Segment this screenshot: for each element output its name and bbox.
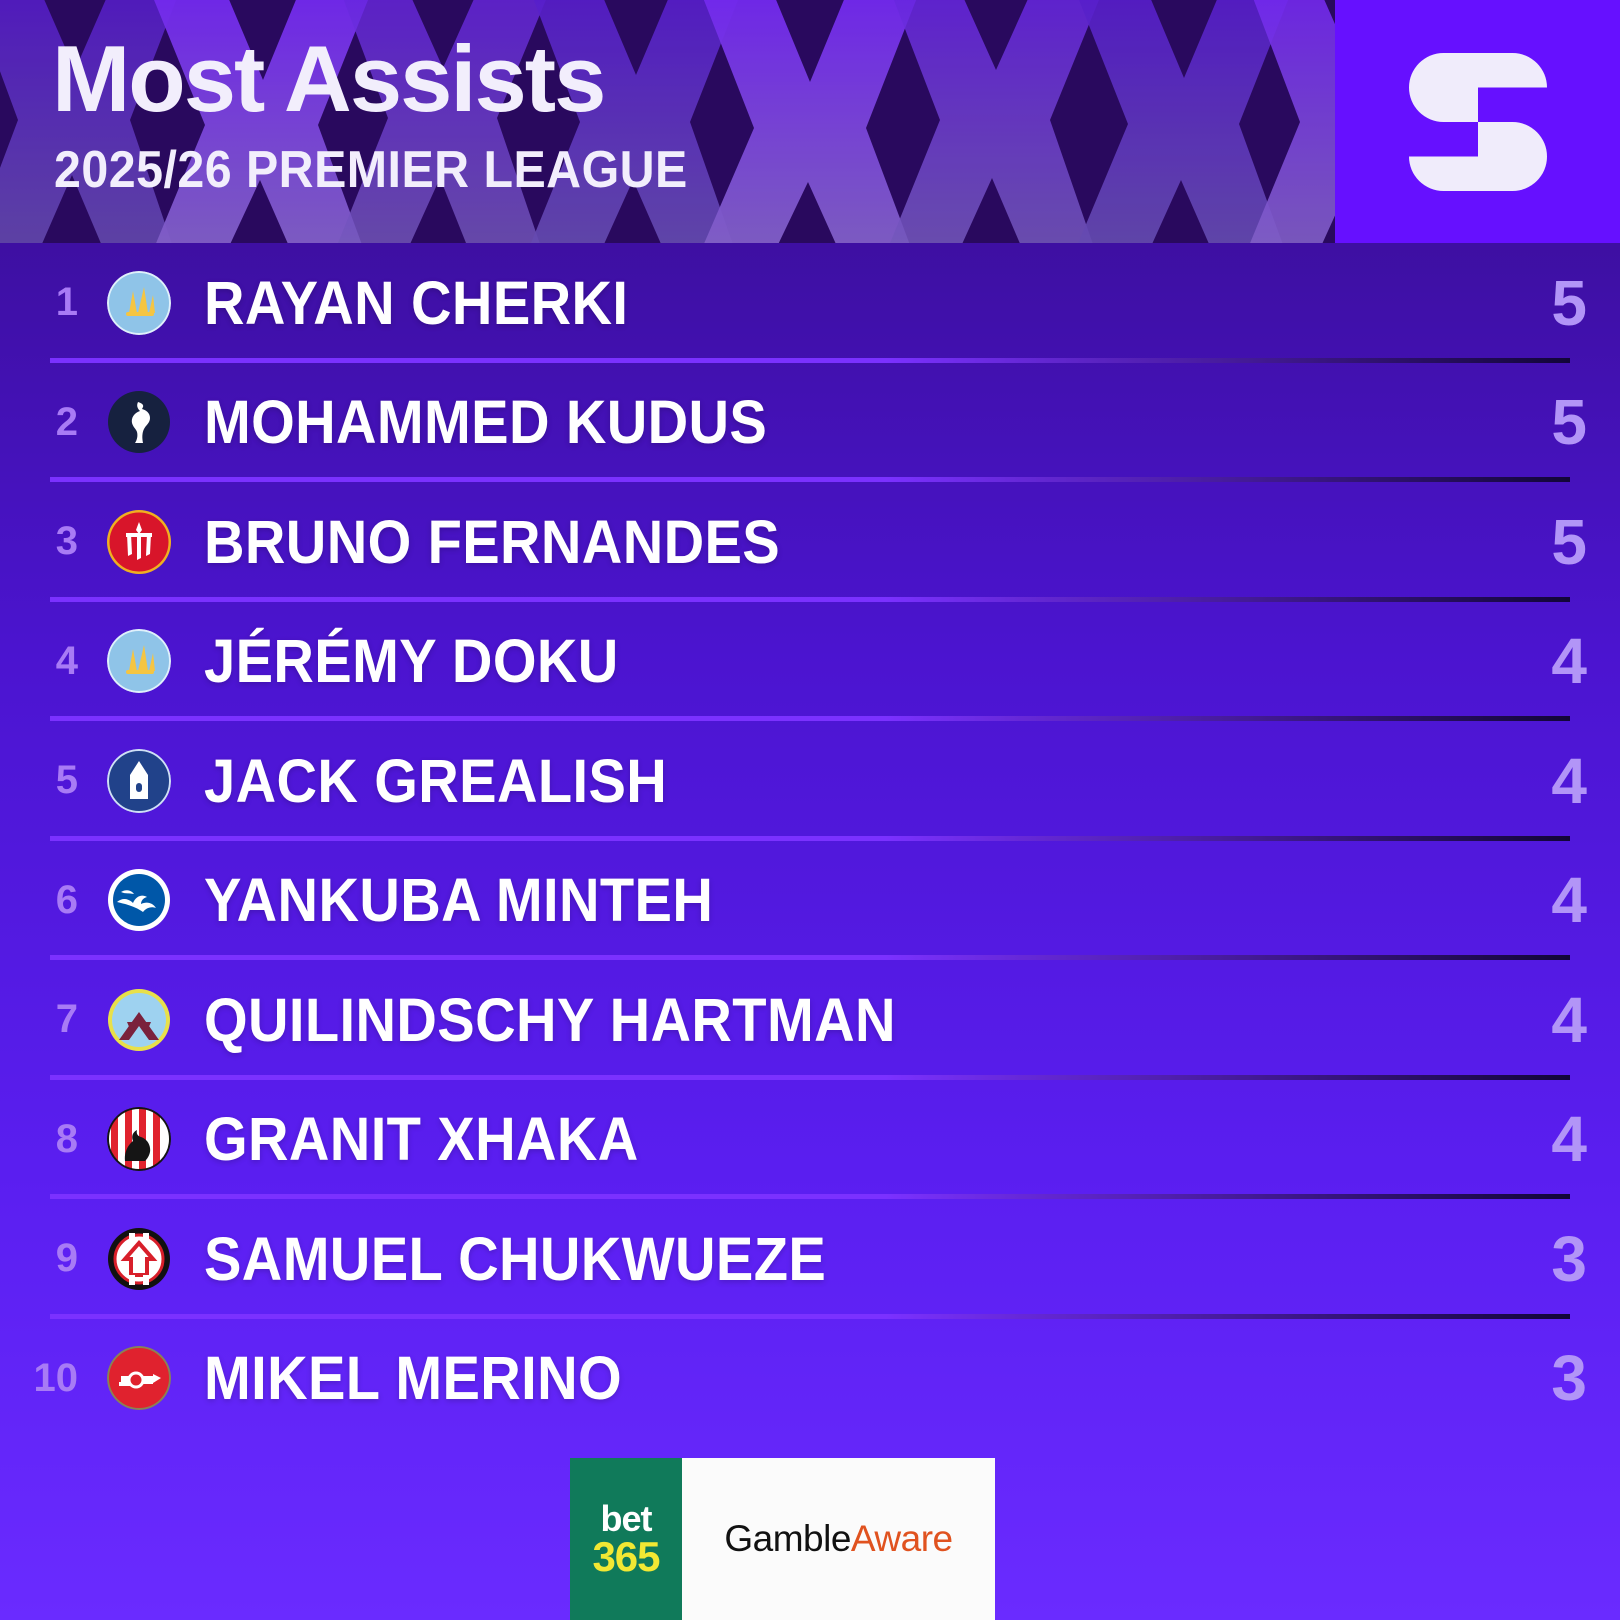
assist-value: 5 (1437, 505, 1620, 579)
assist-value: 3 (1437, 1222, 1620, 1296)
player-name: BRUNO FERNANDES (204, 507, 1338, 577)
table-row[interactable]: 4 JÉRÉMY DOKU 4 (0, 602, 1620, 722)
rank-number: 3 (0, 519, 88, 564)
man-city-badge-icon (107, 629, 171, 693)
rank-number: 6 (0, 878, 88, 923)
rank-number: 8 (0, 1117, 88, 1162)
rank-number: 5 (0, 758, 88, 803)
assist-value: 4 (1437, 624, 1620, 698)
burnley-badge-icon (107, 988, 171, 1052)
gambleaware-gamble-text: Gamble (724, 1518, 851, 1560)
brighton-badge-icon (107, 868, 171, 932)
header: Most Assists 2025/26 PREMIER LEAGUE (0, 0, 1620, 243)
sponsor-footer: bet 365 GambleAware (570, 1458, 995, 1620)
infographic-root: Most Assists 2025/26 PREMIER LEAGUE 1 RA… (0, 0, 1620, 1620)
page-subtitle: 2025/26 PREMIER LEAGUE (54, 144, 688, 196)
table-row[interactable]: 10 MIKEL MERINO 3 (0, 1319, 1620, 1439)
bet365-365-text: 365 (592, 1536, 659, 1577)
table-row[interactable]: 9 SAMUEL CHUKWUEZE 3 (0, 1199, 1620, 1319)
page-title: Most Assists (52, 32, 735, 126)
assist-value: 4 (1437, 744, 1620, 818)
player-name: YANKUBA MINTEH (204, 865, 1338, 935)
assist-value: 4 (1437, 863, 1620, 937)
rank-number: 9 (0, 1236, 88, 1281)
player-name: RAYAN CHERKI (204, 268, 1338, 338)
rank-number: 4 (0, 639, 88, 684)
table-row[interactable]: 6 YANKUBA MINTEH 4 (0, 841, 1620, 961)
player-name: MOHAMMED KUDUS (204, 387, 1338, 457)
table-row[interactable]: 2 MOHAMMED KUDUS 5 (0, 363, 1620, 483)
assist-value: 5 (1437, 385, 1620, 459)
arsenal-badge-icon (107, 1346, 171, 1410)
everton-badge-icon (107, 749, 171, 813)
player-name: SAMUEL CHUKWUEZE (204, 1224, 1338, 1294)
gambleaware-logo[interactable]: GambleAware (682, 1458, 995, 1620)
rank-number: 1 (0, 280, 88, 325)
logo-panel (1335, 0, 1620, 243)
header-text-block: Most Assists 2025/26 PREMIER LEAGUE (52, 32, 735, 196)
table-row[interactable]: 1 RAYAN CHERKI 5 (0, 243, 1620, 363)
rank-number: 10 (0, 1356, 88, 1401)
man-united-badge-icon (107, 510, 171, 574)
assist-value: 5 (1437, 266, 1620, 340)
assist-value: 4 (1437, 983, 1620, 1057)
gambleaware-aware-text: Aware (851, 1518, 953, 1560)
rank-number: 2 (0, 400, 88, 445)
bet365-bet-text: bet (601, 1501, 652, 1536)
player-name: QUILINDSCHY HARTMAN (204, 985, 1338, 1055)
table-row[interactable]: 8 GRANIT XHAKA 4 (0, 1080, 1620, 1200)
player-name: JACK GREALISH (204, 746, 1338, 816)
rankings-list: 1 RAYAN CHERKI 5 2 MOHAMMED KUDUS 5 3 BR… (0, 243, 1620, 1438)
rank-number: 7 (0, 997, 88, 1042)
player-name: JÉRÉMY DOKU (204, 626, 1338, 696)
tottenham-badge-icon (107, 390, 171, 454)
assist-value: 4 (1437, 1102, 1620, 1176)
table-row[interactable]: 3 BRUNO FERNANDES 5 (0, 482, 1620, 602)
player-name: MIKEL MERINO (204, 1343, 1338, 1413)
bet365-logo[interactable]: bet 365 (570, 1458, 682, 1620)
table-row[interactable]: 7 QUILINDSCHY HARTMAN 4 (0, 960, 1620, 1080)
table-row[interactable]: 5 JACK GREALISH 4 (0, 721, 1620, 841)
fulham-badge-icon (107, 1227, 171, 1291)
sunderland-badge-icon (107, 1107, 171, 1171)
man-city-badge-icon (107, 271, 171, 335)
sofascore-logo-icon (1403, 44, 1553, 200)
assist-value: 3 (1437, 1341, 1620, 1415)
player-name: GRANIT XHAKA (204, 1104, 1338, 1174)
